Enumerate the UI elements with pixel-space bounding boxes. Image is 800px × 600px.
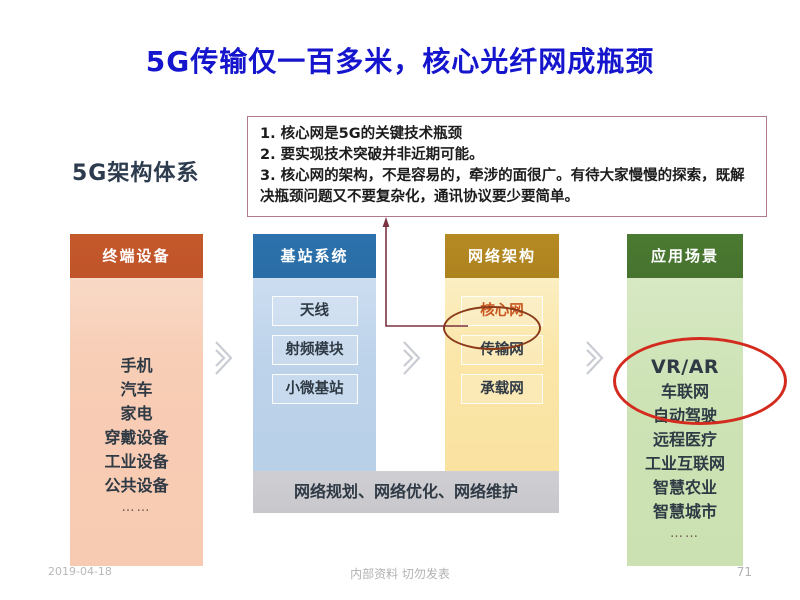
footer-page-number: 71 xyxy=(737,565,752,579)
column-header-base-station: 基站系统 xyxy=(253,234,376,278)
sub-box-bearer-network: 承载网 xyxy=(461,374,543,404)
network-operations-bar: 网络规划、网络优化、网络维护 xyxy=(253,471,559,513)
list-item: 智慧农业 xyxy=(627,476,743,500)
list-item: 远程医疗 xyxy=(627,428,743,452)
sub-box-antenna: 天线 xyxy=(272,296,358,326)
chevron-right-icon xyxy=(212,338,236,378)
list-item: 工业设备 xyxy=(70,450,203,474)
architecture-label: 5G架构体系 xyxy=(72,155,199,187)
sub-box-small-cell: 小微基站 xyxy=(272,374,358,404)
note-box: 1. 核心网是5G的关键技术瓶颈 2. 要实现技术突破并非近期可能。 3. 核心… xyxy=(247,116,767,217)
callout-connector-arrow xyxy=(380,216,470,340)
list-item: 工业互联网 xyxy=(627,452,743,476)
note-line-1: 1. 核心网是5G的关键技术瓶颈 xyxy=(260,124,756,145)
note-line-2: 2. 要实现技术突破并非近期可能。 xyxy=(260,145,756,166)
slide-footer: 2019-04-18 内部资料 切勿发表 71 xyxy=(0,565,800,585)
chevron-right-icon xyxy=(400,338,424,378)
ellipsis-text: …… xyxy=(627,524,743,544)
column-body-terminal-devices: 手机 汽车 家电 穿戴设备 工业设备 公共设备 …… xyxy=(70,278,203,566)
column-header-application-scenarios: 应用场景 xyxy=(627,234,743,278)
chevron-right-icon xyxy=(583,338,607,378)
list-item: 手机 xyxy=(70,354,203,378)
ellipsis-text: …… xyxy=(70,498,203,518)
slide-canvas: 5G传输仅一百多米，核心光纤网成瓶颈 5G架构体系 1. 核心网是5G的关键技术… xyxy=(0,0,800,600)
column-header-terminal-devices: 终端设备 xyxy=(70,234,203,278)
list-item: 穿戴设备 xyxy=(70,426,203,450)
list-item: 家电 xyxy=(70,402,203,426)
note-line-3: 3. 核心网的架构，不是容易的，牵涉的面很广。有待大家慢慢的探索，既解决瓶颈问题… xyxy=(260,166,756,208)
list-item: 汽车 xyxy=(70,378,203,402)
footer-confidential-notice: 内部资料 切勿发表 xyxy=(0,565,800,582)
column-body-base-station: 天线 射频模块 小微基站 xyxy=(253,278,376,484)
sub-box-rf-module: 射频模块 xyxy=(272,335,358,365)
column-terminal-devices: 终端设备 手机 汽车 家电 穿戴设备 工业设备 公共设备 …… xyxy=(70,234,203,566)
highlight-ellipse-applications xyxy=(613,337,787,425)
list-item: 公共设备 xyxy=(70,474,203,498)
column-base-station: 基站系统 天线 射频模块 小微基站 xyxy=(253,234,376,484)
page-title: 5G传输仅一百多米，核心光纤网成瓶颈 xyxy=(0,40,800,80)
list-item: 智慧城市 xyxy=(627,500,743,524)
